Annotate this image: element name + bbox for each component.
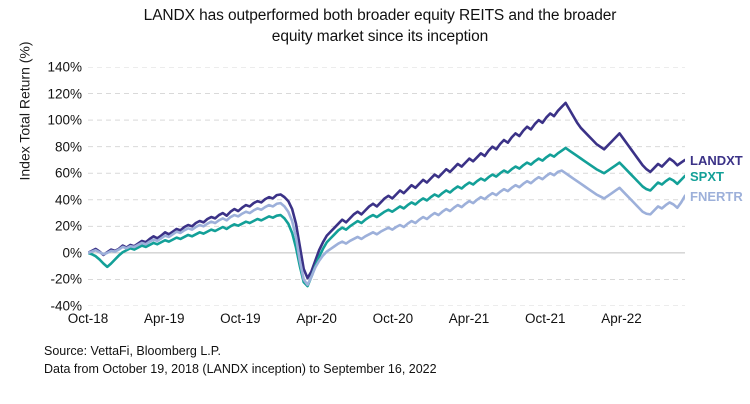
chart-title: LANDX has outperformed both broader equi… [60, 6, 700, 47]
y-tick-label: 80% [26, 139, 82, 154]
legend-item-fnertr: FNERTR [690, 187, 743, 206]
y-tick-label: 120% [26, 86, 82, 101]
series-lines-svg [88, 67, 685, 306]
legend-item-spxt: SPXT [690, 167, 724, 186]
y-tick-label: -20% [26, 272, 82, 287]
x-tick-label: Apr-21 [449, 311, 490, 326]
x-tick-label: Oct-21 [525, 311, 566, 326]
source-footnote: Source: VettaFi, Bloomberg L.P. Data fro… [44, 342, 437, 378]
footnote-daterange: Data from October 19, 2018 (LANDX incept… [44, 360, 437, 378]
x-tick-label: Oct-18 [68, 311, 109, 326]
chart-page: LANDX has outperformed both broader equi… [0, 0, 750, 404]
x-tick-label: Oct-20 [373, 311, 414, 326]
footnote-source: Source: VettaFi, Bloomberg L.P. [44, 342, 437, 360]
x-tick-label: Apr-22 [601, 311, 642, 326]
chart-container: Index Total Return (%) 140%120%100%80%60… [0, 55, 750, 315]
x-tick-label: Apr-19 [144, 311, 185, 326]
chart-title-line2: equity market since its inception [60, 27, 700, 48]
y-tick-label: 40% [26, 192, 82, 207]
y-axis-tick-labels: 140%120%100%80%60%40%20%0%-20%-40% [20, 67, 82, 306]
chart-title-line1: LANDX has outperformed both broader equi… [60, 6, 700, 27]
y-tick-label: 0% [26, 245, 82, 260]
plot-area [88, 67, 685, 306]
y-tick-label: 20% [26, 219, 82, 234]
x-tick-label: Apr-20 [296, 311, 337, 326]
x-axis-tick-labels: Oct-18Apr-19Oct-19Apr-20Oct-20Apr-21Oct-… [88, 311, 685, 331]
x-tick-label: Oct-19 [220, 311, 261, 326]
y-tick-label: 140% [26, 60, 82, 75]
y-tick-label: 100% [26, 113, 82, 128]
y-tick-label: 60% [26, 166, 82, 181]
